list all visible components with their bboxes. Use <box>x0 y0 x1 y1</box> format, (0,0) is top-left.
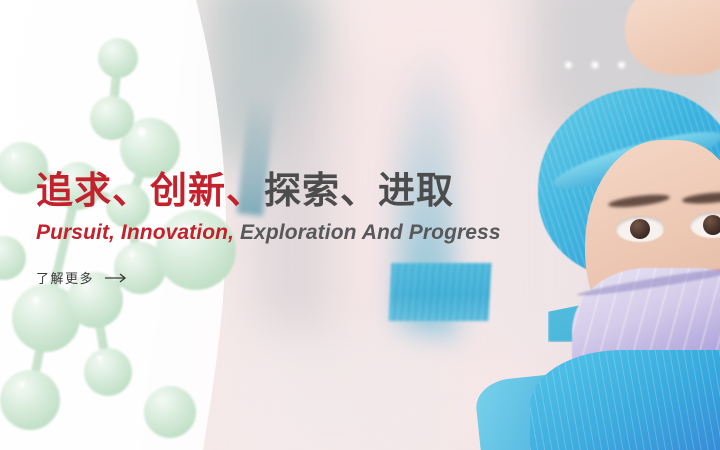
pupil-left <box>630 219 650 239</box>
lab-equipment-blur-7 <box>230 330 460 450</box>
subheadline-red-segment: Pursuit, Innovation, <box>36 221 234 244</box>
banner-subheadline: Pursuit, Innovation, Exploration And Pro… <box>36 221 556 245</box>
arrow-right-icon <box>105 273 129 283</box>
banner-content: 追求、创新、探索、进取 Pursuit, Innovation, Explora… <box>36 170 556 288</box>
headline-grey-segment: 探索、进取 <box>264 170 454 211</box>
subheadline-grey-segment: Exploration And Progress <box>234 221 501 244</box>
banner-headline: 追求、创新、探索、进取 <box>36 170 556 211</box>
hero-banner: 追求、创新、探索、进取 Pursuit, Innovation, Explora… <box>0 0 720 450</box>
learn-more-link[interactable]: 了解更多 <box>36 268 129 287</box>
pupil-right <box>703 215 720 235</box>
scrub-uniform <box>530 350 720 450</box>
headline-red-segment: 追求、创新、 <box>36 170 264 211</box>
technician-hand <box>625 0 720 75</box>
learn-more-label: 了解更多 <box>36 268 94 287</box>
